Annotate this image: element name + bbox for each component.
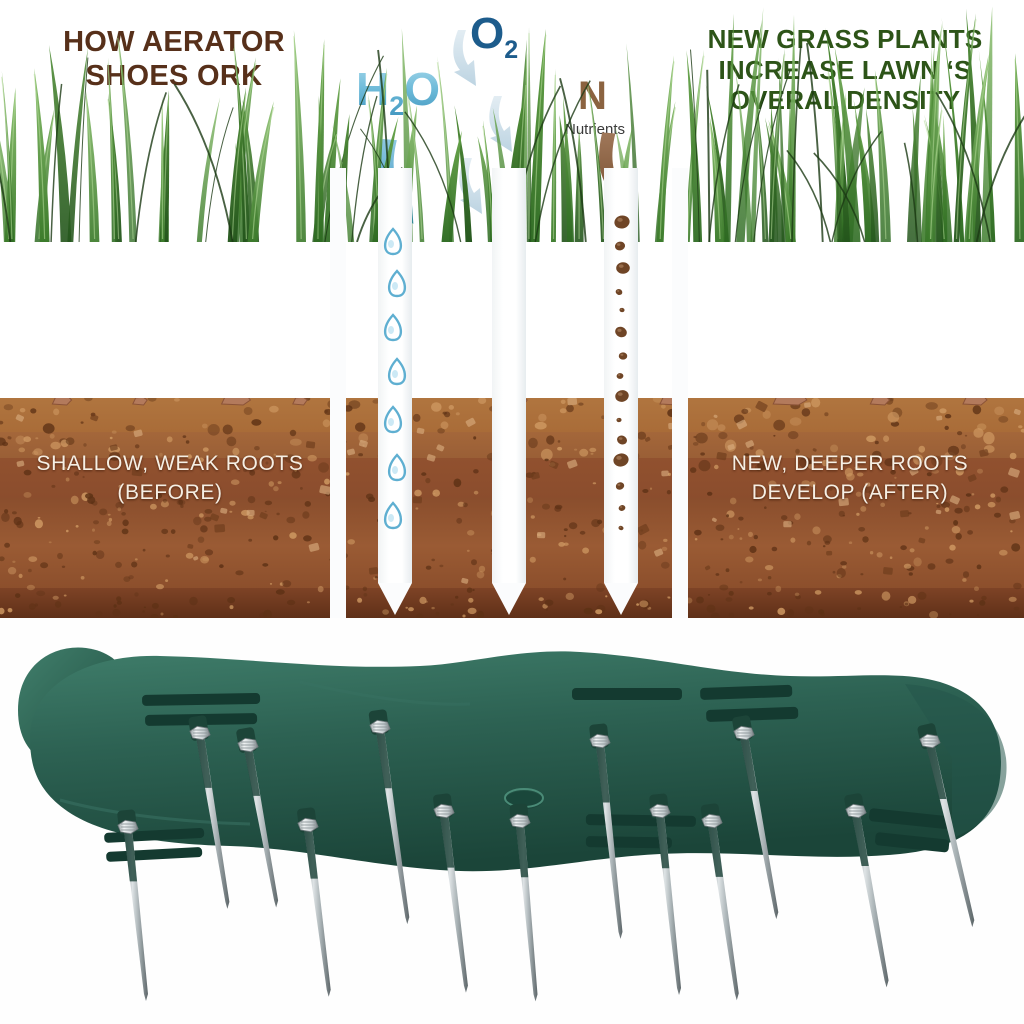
oxygen-channel-shaft	[492, 168, 526, 583]
oxygen-channel-tip	[492, 583, 526, 615]
caption-after: NEW, DEEPER ROOTS DEVELOP (AFTER)	[690, 450, 1010, 508]
aeration-infographic: HOW AERATOR SHOES ORK NEW GRASS PLANTS I…	[0, 0, 1024, 618]
caption-before-line-1: SHALLOW, WEAK ROOTS	[10, 450, 330, 479]
water-channel	[378, 168, 412, 618]
caption-after-line-1: NEW, DEEPER ROOTS	[690, 450, 1010, 479]
caption-before: SHALLOW, WEAK ROOTS (BEFORE)	[10, 450, 330, 508]
channel-divider-right	[672, 168, 688, 618]
water-channel-tip	[378, 583, 412, 615]
aerator-shoe-illustration	[0, 618, 1024, 1024]
water-droplets	[378, 168, 412, 583]
caption-after-line-2: DEVELOP (AFTER)	[690, 479, 1010, 508]
nutrient-nuggets	[604, 168, 638, 583]
product-photo	[0, 618, 1024, 1024]
oxygen-channel	[492, 168, 526, 618]
caption-before-line-2: (BEFORE)	[10, 479, 330, 508]
nutrient-channel-tip	[604, 583, 638, 615]
nutrient-channel	[604, 168, 638, 618]
channel-divider-left	[330, 168, 346, 618]
infographic-page: HOW AERATOR SHOES ORK NEW GRASS PLANTS I…	[0, 0, 1024, 1024]
